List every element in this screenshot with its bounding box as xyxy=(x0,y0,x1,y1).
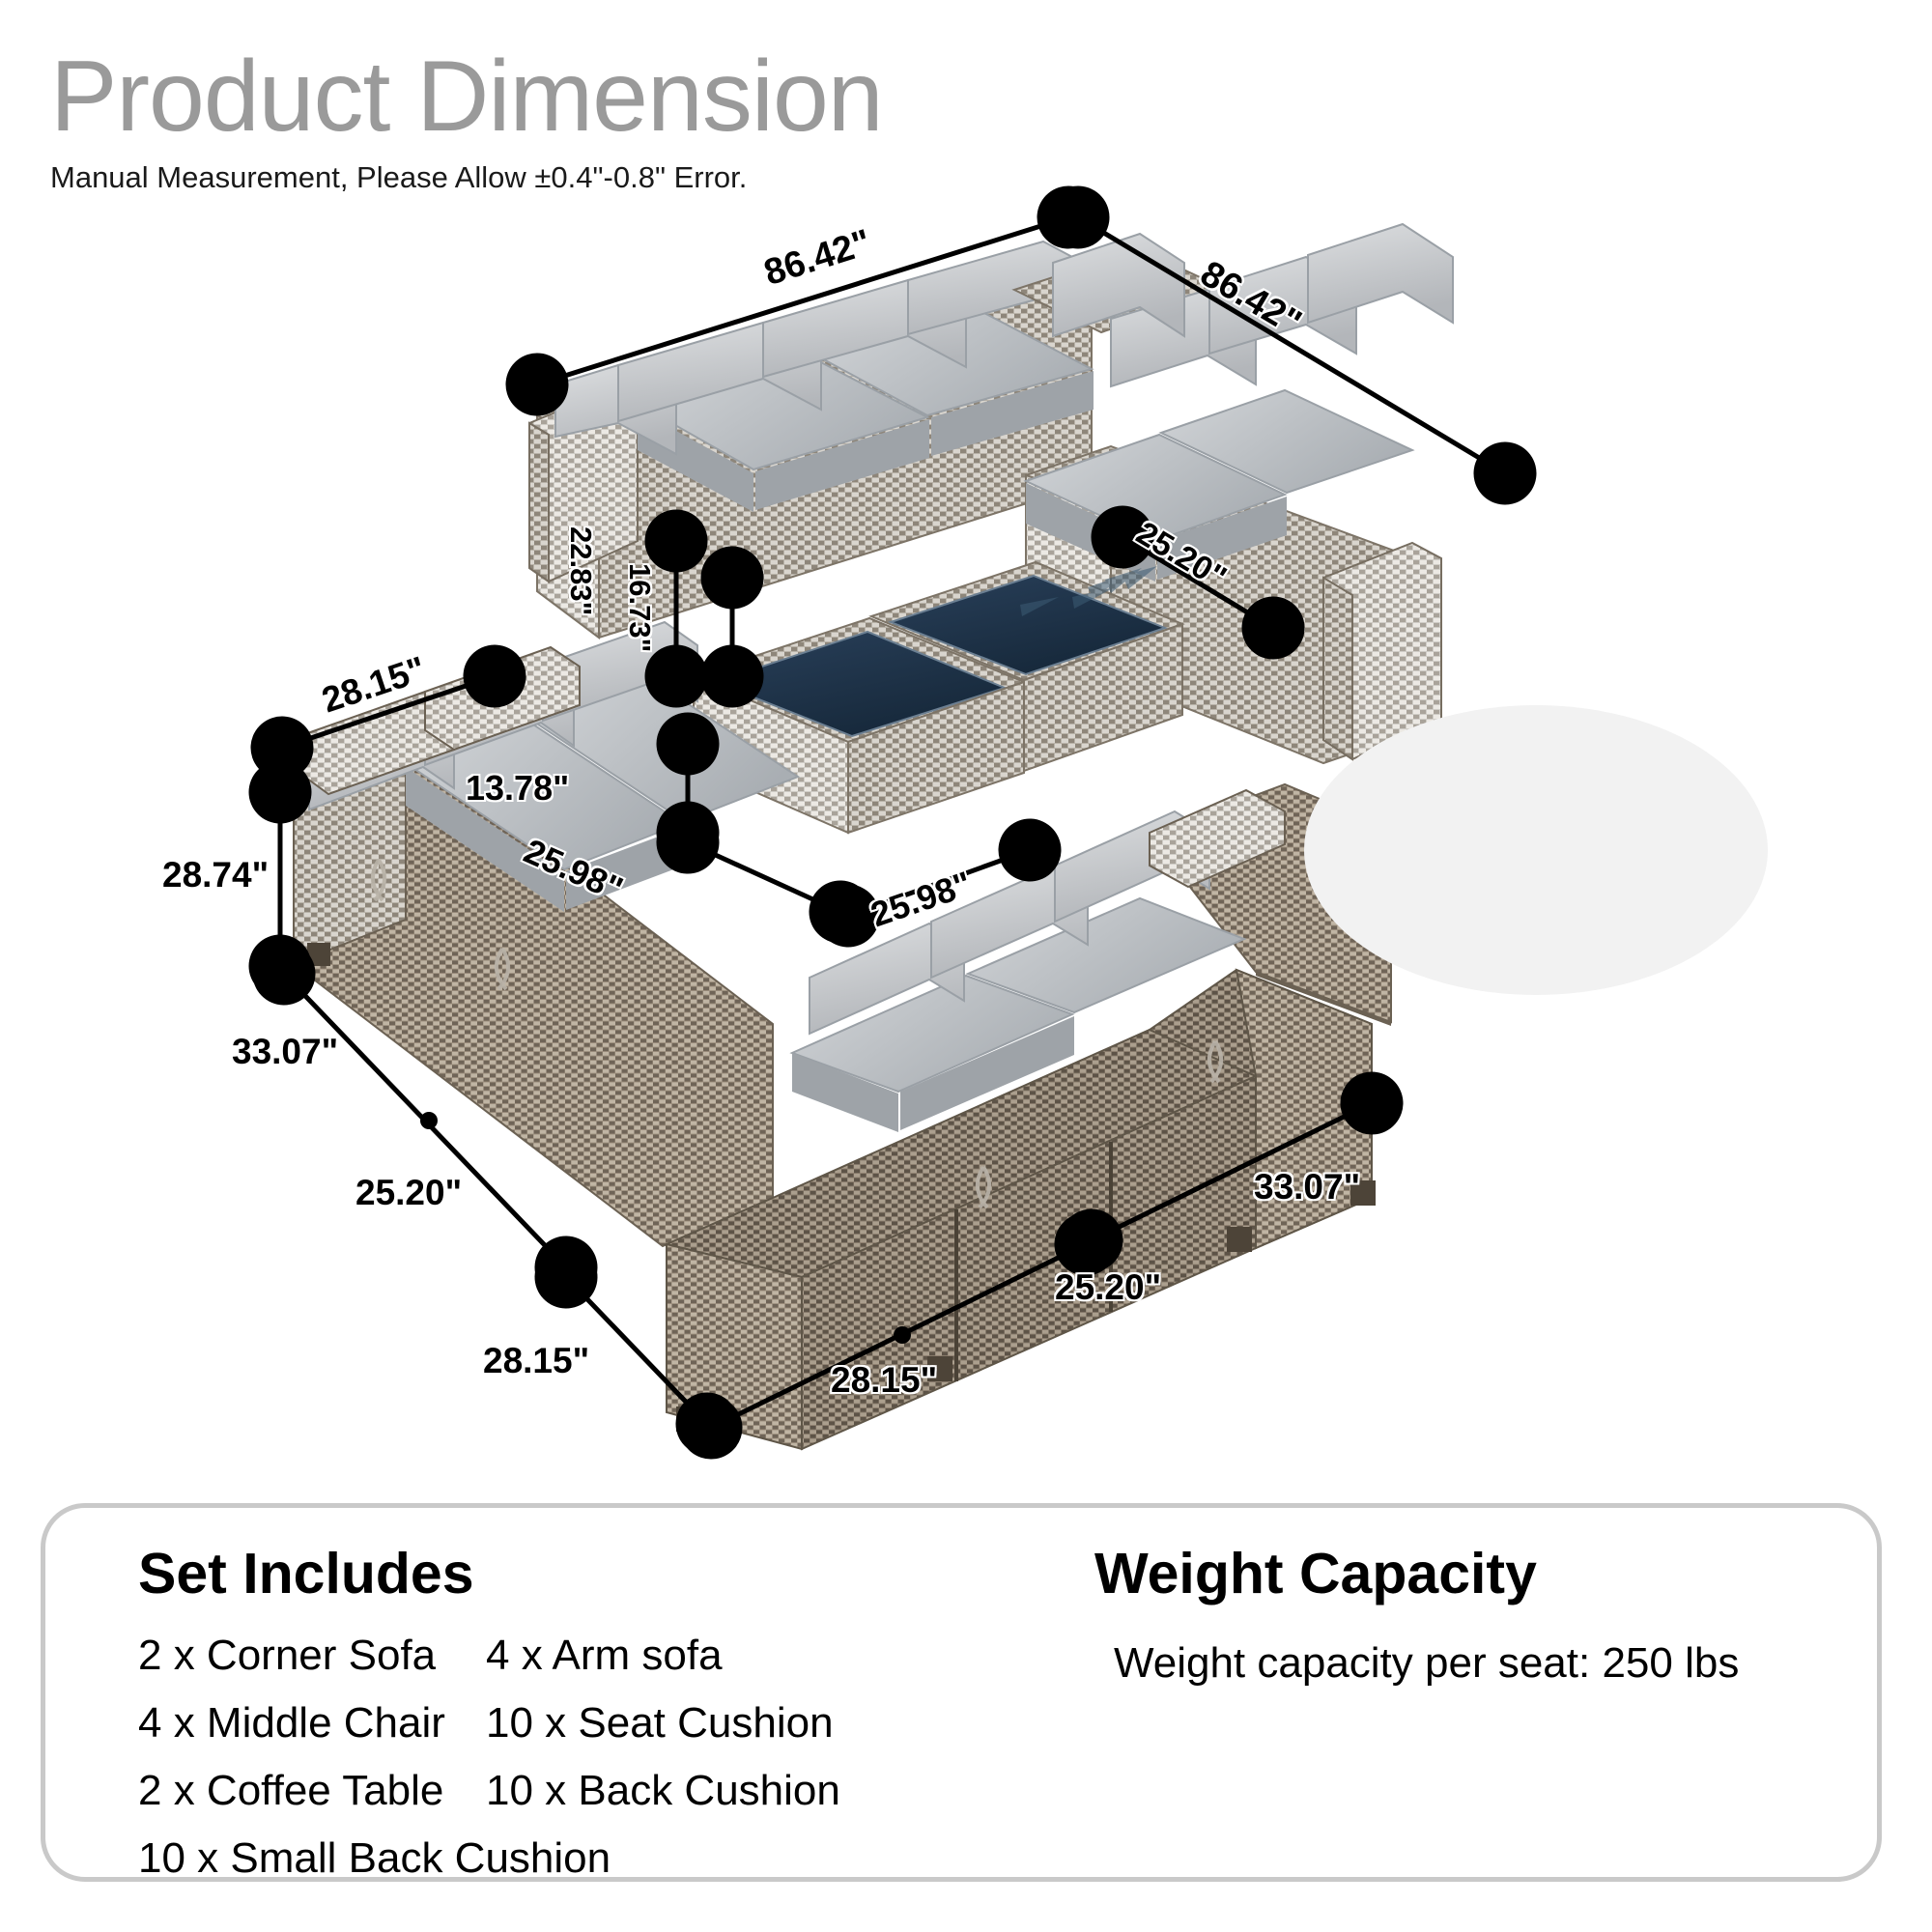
set-includes-section: Set Includes 2 x Corner Sofa 4 x Arm sof… xyxy=(138,1541,1008,1902)
coffee-tables xyxy=(694,562,1182,833)
dimension-label-low-sofa-front-mid: 25.20" xyxy=(1055,1267,1161,1308)
dimension-label-top-sofa-back-height: 22.83" xyxy=(563,526,598,615)
dimension-label-low-sofa-total-height: 28.74" xyxy=(162,855,269,895)
product-dimension-illustration: 86.42" 86.42" 22.83" 16.73" 25.20" 13.78… xyxy=(0,0,1932,1478)
set-item-corner-sofa: 2 x Corner Sofa xyxy=(138,1632,486,1680)
set-includes-list: 2 x Corner Sofa 4 x Arm sofa 4 x Middle … xyxy=(138,1632,1008,1883)
list-item: 2 x Corner Sofa 4 x Arm sofa xyxy=(138,1632,1008,1680)
dimension-label-low-sofa-left-long: 33.07" xyxy=(232,1032,338,1072)
weight-capacity-section: Weight Capacity Weight capacity per seat… xyxy=(1094,1541,1848,1688)
dimension-label-low-sofa-front-left: 28.15" xyxy=(831,1360,937,1401)
dimension-label-low-sofa-left-seat: 25.20" xyxy=(355,1173,462,1213)
set-item-coffee-table: 2 x Coffee Table xyxy=(138,1767,486,1815)
list-item: 4 x Middle Chair 10 x Seat Cushion xyxy=(138,1699,1008,1747)
set-includes-heading: Set Includes xyxy=(138,1541,1008,1606)
dimension-label-low-sofa-right-long: 33.07" xyxy=(1254,1167,1360,1207)
weight-capacity-value: Weight capacity per seat: 250 lbs xyxy=(1094,1639,1848,1688)
dimension-label-top-sofa-seat-height: 16.73" xyxy=(622,563,657,652)
dimension-label-low-sofa-left-front: 28.15" xyxy=(483,1341,589,1381)
weight-capacity-heading: Weight Capacity xyxy=(1094,1541,1848,1606)
list-item: 2 x Coffee Table 10 x Back Cushion xyxy=(138,1767,1008,1815)
set-item-seat-cushion: 10 x Seat Cushion xyxy=(486,1699,834,1747)
list-item: 10 x Small Back Cushion xyxy=(138,1834,1008,1883)
set-item-small-back-cushion: 10 x Small Back Cushion xyxy=(138,1834,611,1883)
set-item-middle-chair: 4 x Middle Chair xyxy=(138,1699,486,1747)
dimension-label-coffee-table-height: 13.78" xyxy=(466,768,569,809)
set-item-back-cushion: 10 x Back Cushion xyxy=(486,1767,840,1815)
info-card: Set Includes 2 x Corner Sofa 4 x Arm sof… xyxy=(41,1503,1882,1882)
furniture-diagram xyxy=(0,0,1932,1478)
set-item-arm-sofa: 4 x Arm sofa xyxy=(486,1632,723,1680)
